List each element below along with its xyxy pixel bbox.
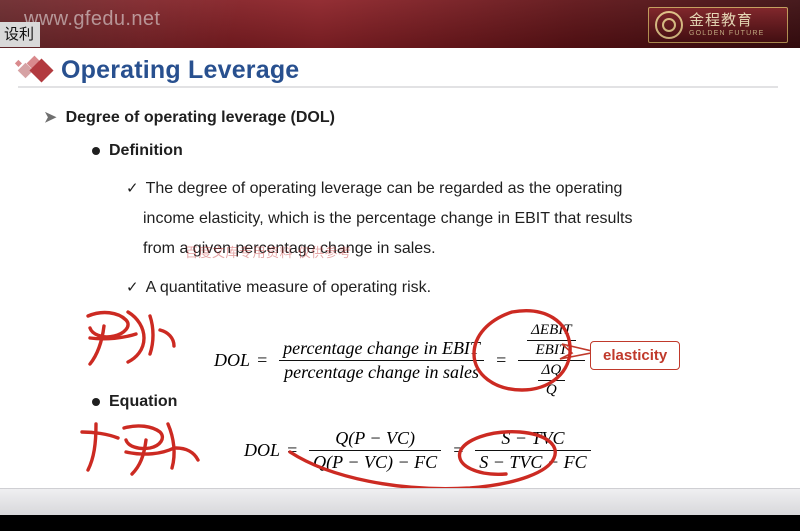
diamond-bullet-icon [29, 58, 53, 82]
brand-logo: 金程教育 GOLDEN FUTURE [648, 7, 788, 43]
formula2-denominator-1: Q(P − VC) − FC [309, 451, 441, 473]
elasticity-callout: elasticity [590, 341, 680, 370]
formula1-q: Q [542, 381, 561, 399]
site-watermark: www.gfedu.net [24, 8, 160, 31]
formula1-right-bottom: ΔQ Q [529, 361, 575, 399]
bullet-equation: Equation [92, 393, 177, 411]
definition-line-3: from a given percentage change in sales. [143, 234, 436, 264]
arrow-bullet-icon: ➤ [44, 109, 57, 126]
seal-icon [655, 11, 683, 39]
definition-line-1: ✓The degree of operating leverage can be… [126, 174, 622, 204]
formula-dol-percentage: DOL = percentage change in EBIT percenta… [214, 322, 590, 399]
definition-text-4: A quantitative measure of operating risk… [146, 279, 432, 296]
formula2-numerator-1: Q(P − VC) [331, 428, 419, 450]
formula2-equals-2: = [452, 440, 464, 461]
formula2-left-fraction: Q(P − VC) Q(P − VC) − FC [309, 428, 441, 473]
slide-content: Operating Leverage ➤Degree of operating … [0, 48, 800, 488]
slide: www.gfedu.net 金程教育 GOLDEN FUTURE 设利 Oper… [0, 0, 800, 531]
formula2-lhs: DOL [244, 440, 280, 461]
brand-logo-text: 金程教育 GOLDEN FUTURE [689, 13, 765, 37]
player-bottom-bar [0, 515, 800, 531]
bullet-definition-label: Definition [109, 142, 183, 160]
brand-name-en: GOLDEN FUTURE [689, 30, 765, 37]
definition-text-1: The degree of operating leverage can be … [146, 180, 623, 197]
formula1-lhs: DOL [214, 350, 250, 371]
formula1-main-fraction: percentage change in EBIT percentage cha… [279, 338, 484, 383]
slide-title-row: Operating Leverage [20, 56, 299, 85]
page-title: Operating Leverage [61, 56, 299, 85]
formula-dol-equation: DOL = Q(P − VC) Q(P − VC) − FC = S − TVC… [244, 428, 596, 473]
dot-bullet-icon-2 [92, 398, 100, 406]
brand-name-cn: 金程教育 [689, 13, 765, 28]
formula1-denominator: percentage change in sales [280, 361, 483, 383]
definition-line-2: income elasticity, which is the percenta… [143, 204, 632, 234]
dot-bullet-icon [92, 147, 100, 155]
formula1-equals-2: = [495, 350, 507, 371]
bullet-dol: ➤Degree of operating leverage (DOL) [44, 108, 335, 127]
formula2-right-fraction: S − TVC S − TVC − FC [475, 428, 590, 473]
definition-line-4: ✓A quantitative measure of operating ris… [126, 273, 431, 303]
definition-text-3: from a given percentage change in sales. [143, 240, 436, 257]
screenshot-stage: www.gfedu.net 金程教育 GOLDEN FUTURE 设利 Oper… [0, 0, 800, 531]
formula2-denominator-2: S − TVC − FC [475, 451, 590, 473]
definition-text-2: income elasticity, which is the percenta… [143, 210, 632, 227]
formula1-delta-ebit: ΔEBIT [527, 322, 575, 340]
formula1-delta-q-over-q: ΔQ Q [538, 362, 566, 399]
bullet-equation-label: Equation [109, 393, 177, 411]
bullet-definition: Definition [92, 142, 183, 160]
slide-header-band: www.gfedu.net 金程教育 GOLDEN FUTURE [0, 0, 800, 48]
formula1-numerator: percentage change in EBIT [279, 338, 484, 360]
bullet-dol-label: Degree of operating leverage (DOL) [66, 109, 335, 126]
check-bullet-icon-2: ✓ [126, 279, 139, 296]
formula2-equals: = [286, 440, 298, 461]
formula2-numerator-2: S − TVC [497, 428, 568, 450]
title-divider [18, 86, 778, 88]
formula1-equals: = [256, 350, 268, 371]
check-bullet-icon: ✓ [126, 180, 139, 197]
slide-footer-strip [0, 488, 800, 516]
corner-chip-label: 设利 [0, 22, 40, 47]
